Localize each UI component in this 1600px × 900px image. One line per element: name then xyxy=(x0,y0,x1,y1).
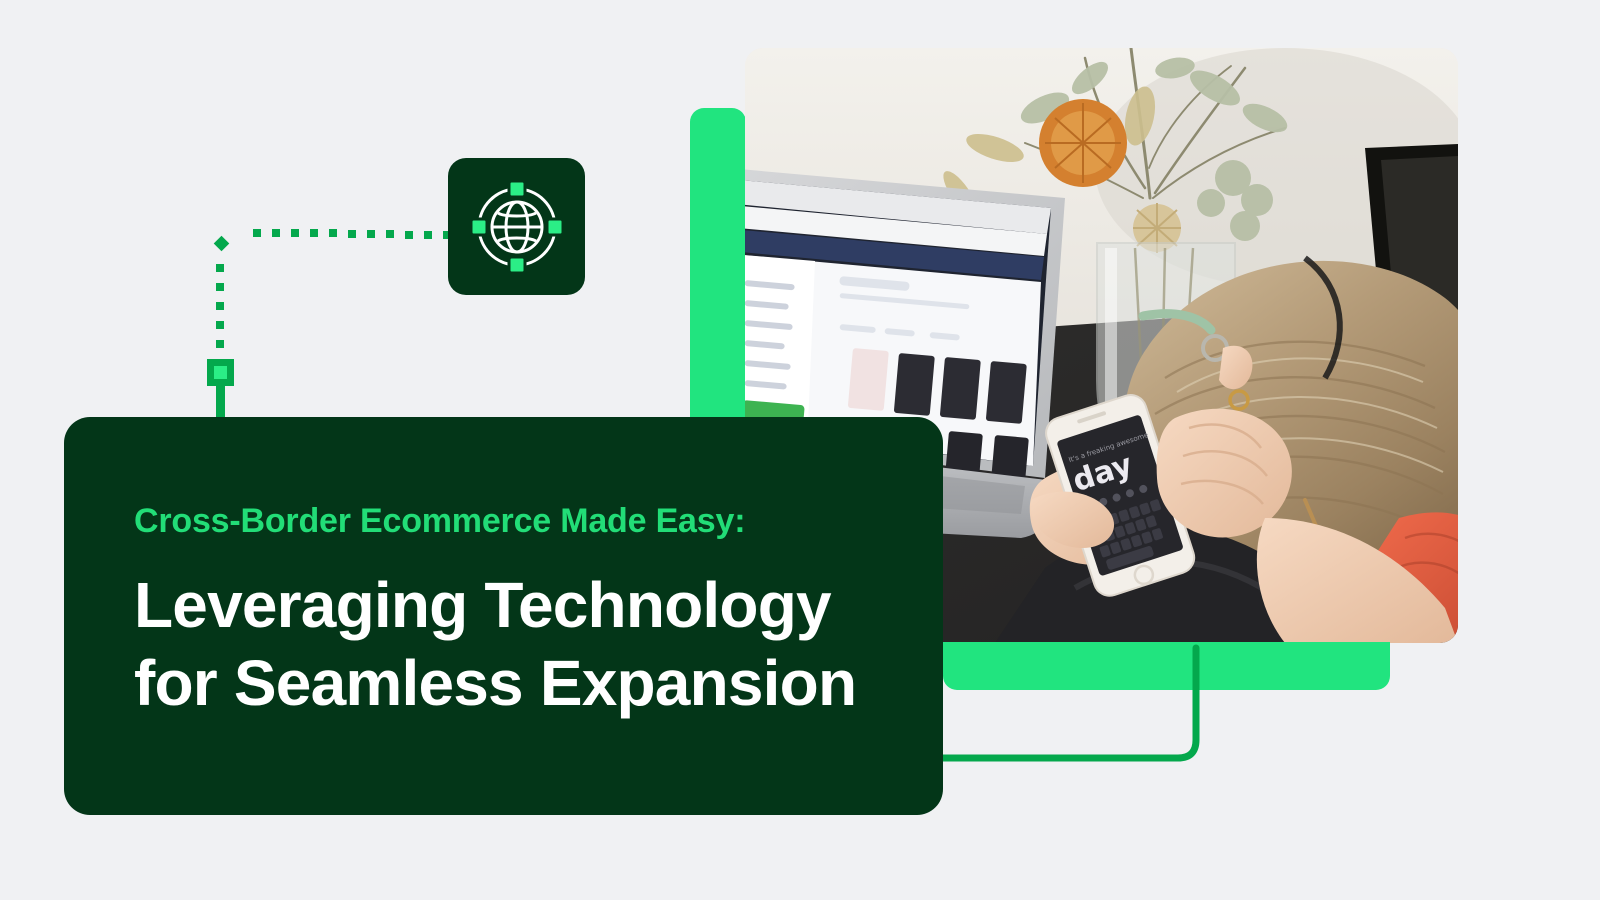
path-dot xyxy=(216,283,224,291)
globe-network-icon-tile xyxy=(448,158,585,295)
path-dot xyxy=(424,231,432,239)
path-dot xyxy=(291,229,299,237)
path-dot xyxy=(405,231,413,239)
headline-line-2: for Seamless Expansion xyxy=(134,644,873,722)
path-node-core xyxy=(214,366,227,379)
headline: Leveraging Technology for Seamless Expan… xyxy=(134,566,873,722)
headline-line-1: Leveraging Technology xyxy=(134,566,873,644)
path-dot xyxy=(367,230,375,238)
path-dot xyxy=(253,229,261,237)
path-dot xyxy=(216,302,224,310)
accent-bar-horizontal xyxy=(943,642,1390,690)
path-corner-diamond xyxy=(214,236,230,252)
path-dot xyxy=(348,230,356,238)
hero-banner: It's a freaking awesome day xyxy=(0,0,1600,900)
path-dot xyxy=(216,340,224,348)
path-node-marker xyxy=(207,359,234,386)
title-card: Cross-Border Ecommerce Made Easy: Levera… xyxy=(64,417,943,815)
path-dot xyxy=(216,264,224,272)
eyebrow-text: Cross-Border Ecommerce Made Easy: xyxy=(134,503,873,540)
globe-network-icon xyxy=(471,181,563,273)
path-dot xyxy=(329,229,337,237)
path-dot xyxy=(216,321,224,329)
path-dot xyxy=(386,230,394,238)
path-dot xyxy=(272,229,280,237)
path-dot xyxy=(310,229,318,237)
